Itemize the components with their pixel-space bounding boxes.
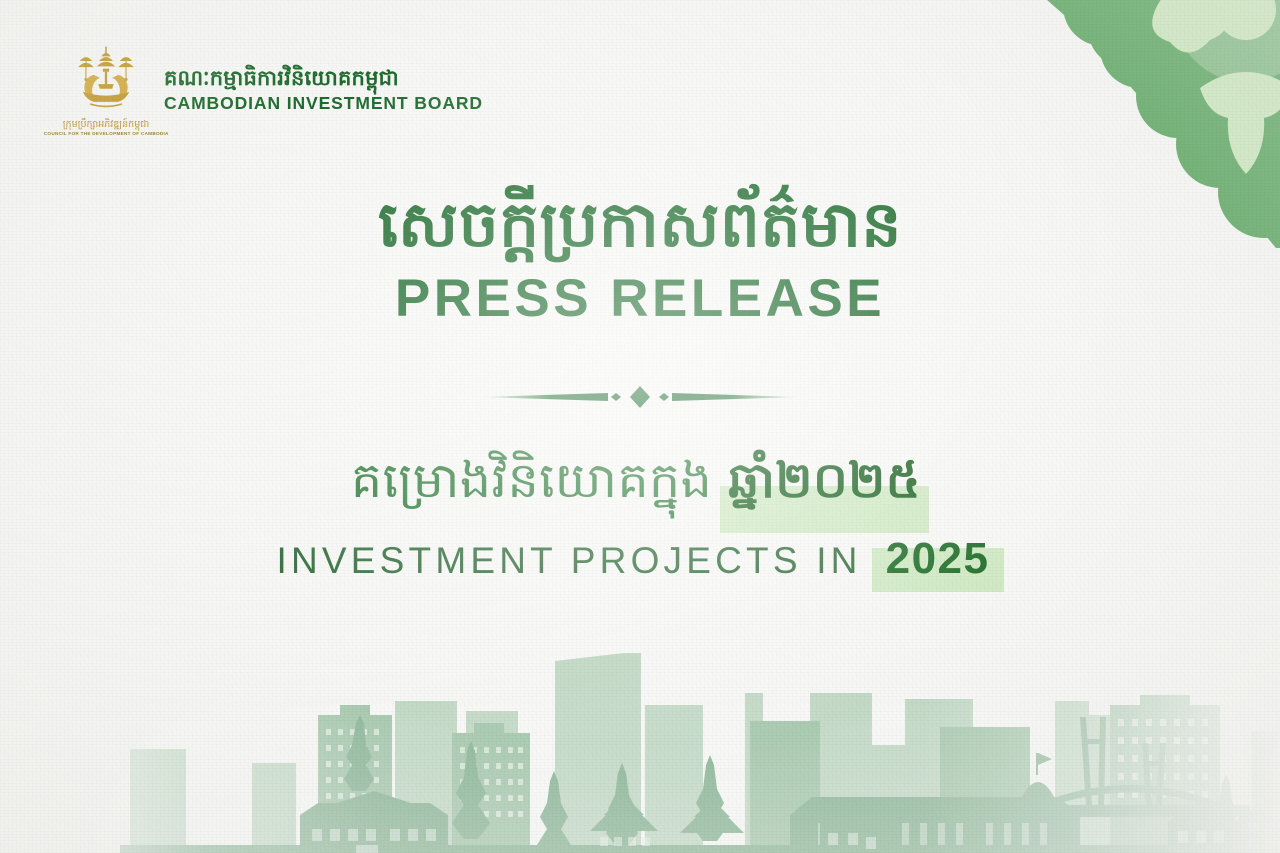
organization-name-english: CAMBODIAN INVESTMENT BOARD — [164, 93, 483, 114]
logo-khmer-caption: ក្រុមប្រឹក្សាអភិវឌ្ឍន៍កម្ពុជា — [63, 120, 150, 130]
page-title-english: PRESS RELEASE — [0, 269, 1280, 330]
subtitle-khmer: គម្រោងវិនិយោគក្នុងឆ្នាំ២០២៥ — [0, 448, 1280, 514]
cda-logo: ក្រុមប្រឹក្សាអភិវឌ្ឍន៍កម្ពុជា COUNCIL FO… — [58, 44, 154, 136]
ornamental-diamond-divider-icon — [480, 384, 800, 410]
subtitle-english-year-highlight: 2025 — [872, 534, 1004, 584]
organization-name-khmer: គណៈកម្មាធិការវិនិយោគកម្ពុជា — [164, 66, 483, 92]
main-title-block: សេចក្តីប្រកាសព័ត៌មាន PRESS RELEASE — [0, 186, 1280, 330]
subtitle-english: INVESTMENT PROJECTS IN2025 — [0, 534, 1280, 584]
subtitle-khmer-year-highlight: ឆ្នាំ២០២៥ — [720, 448, 929, 514]
cambodia-royal-emblem-icon — [67, 44, 145, 118]
page-title-khmer: សេចក្តីប្រកាសព័ត៌មាន — [0, 186, 1280, 265]
press-release-poster: ក្រុមប្រឹក្សាអភិវឌ្ឍន៍កម្ពុជា COUNCIL FO… — [0, 0, 1280, 853]
logo-english-caption: COUNCIL FOR THE DEVELOPMENT OF CAMBODIA — [44, 131, 169, 136]
phnom-penh-skyline-silhouette-icon — [0, 653, 1280, 853]
subtitle-english-lead: INVESTMENT PROJECTS IN — [277, 540, 862, 581]
brand-header: ក្រុមប្រឹក្សាអភិវឌ្ឍន៍កម្ពុជា COUNCIL FO… — [58, 44, 483, 136]
subtitle-block: គម្រោងវិនិយោគក្នុងឆ្នាំ២០២៥ INVESTMENT P… — [0, 448, 1280, 584]
divider — [0, 384, 1280, 410]
subtitle-khmer-lead: គម្រោងវិនិយោគក្នុង — [351, 454, 712, 508]
